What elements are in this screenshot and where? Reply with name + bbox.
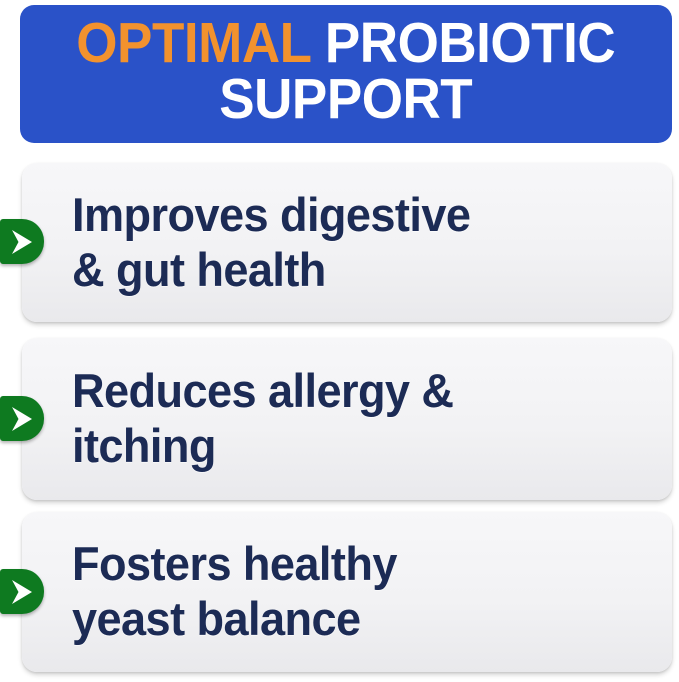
- chevron-right-arrow-icon: [0, 219, 44, 264]
- header-line-1-rest: PROBIOTIC: [311, 11, 616, 75]
- chevron-right-arrow-icon: [0, 569, 44, 614]
- chevron-right-arrow-icon: [0, 396, 44, 441]
- benefit-card-1-line-2: & gut health: [72, 243, 470, 298]
- header-highlight-word: OPTIMAL: [77, 11, 311, 75]
- benefit-card-1-line-1: Improves digestive: [72, 188, 470, 243]
- infographic-root: OPTIMAL PROBIOTIC SUPPORT Improves diges…: [0, 0, 679, 682]
- header-line-1: OPTIMAL PROBIOTIC: [77, 16, 616, 72]
- benefit-card-3-text: Fosters healthy yeast balance: [72, 537, 397, 646]
- benefit-card-3-line-2: yeast balance: [72, 592, 397, 647]
- header-banner-text: OPTIMAL PROBIOTIC SUPPORT: [77, 16, 616, 128]
- header-banner: OPTIMAL PROBIOTIC SUPPORT: [20, 5, 672, 143]
- benefit-card-1: Improves digestive & gut health: [22, 163, 672, 322]
- benefit-card-2-line-1: Reduces allergy &: [72, 364, 453, 419]
- benefit-card-2-text: Reduces allergy & itching: [72, 364, 453, 473]
- benefit-card-2: Reduces allergy & itching: [22, 338, 672, 500]
- header-line-2: SUPPORT: [77, 72, 616, 128]
- benefit-card-1-text: Improves digestive & gut health: [72, 188, 470, 297]
- benefit-card-3: Fosters healthy yeast balance: [22, 512, 672, 672]
- benefit-card-2-line-2: itching: [72, 419, 453, 474]
- benefit-card-3-line-1: Fosters healthy: [72, 537, 397, 592]
